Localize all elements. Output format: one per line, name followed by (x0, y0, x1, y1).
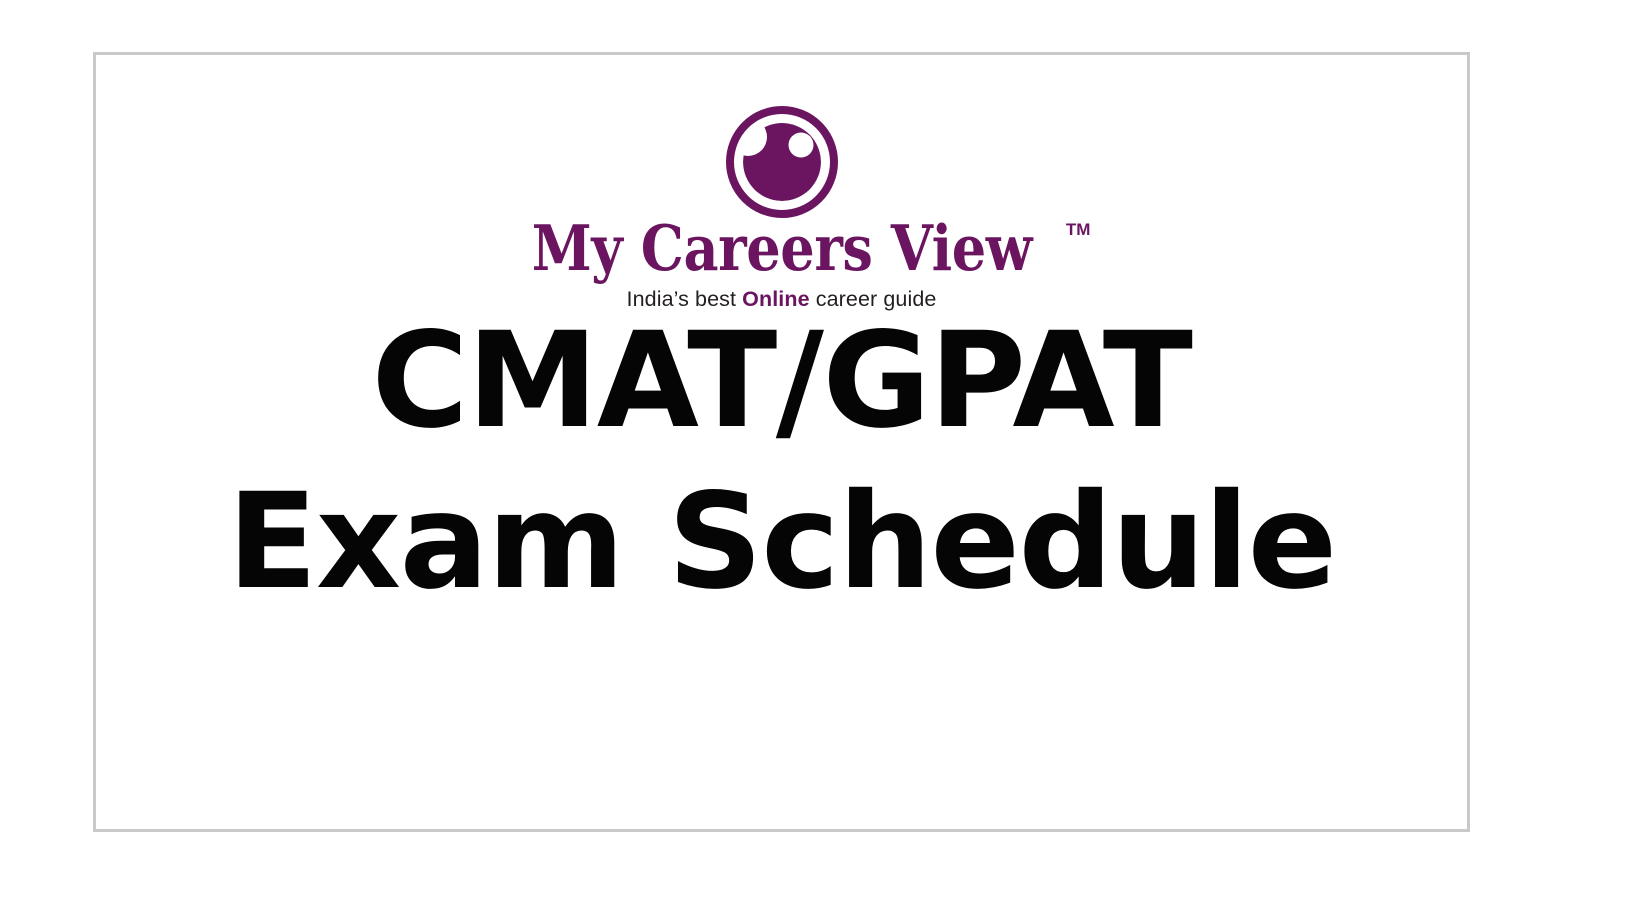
slide-title-block: CMAT/GPAT Exam Schedule (96, 301, 1467, 623)
eye-logo-icon (691, 103, 873, 221)
slide-card: My Careers View TM India’s best Online c… (93, 52, 1470, 832)
brand-wordmark: My Careers View (531, 217, 1031, 280)
slide-title-line-2: Exam Schedule (96, 462, 1467, 623)
trademark-symbol: TM (1066, 221, 1091, 238)
slide-title-line-1: CMAT/GPAT (96, 301, 1467, 462)
brand-logo-block: My Careers View TM India’s best Online c… (96, 103, 1467, 312)
brand-wordmark-row: My Careers View TM (491, 217, 1073, 280)
